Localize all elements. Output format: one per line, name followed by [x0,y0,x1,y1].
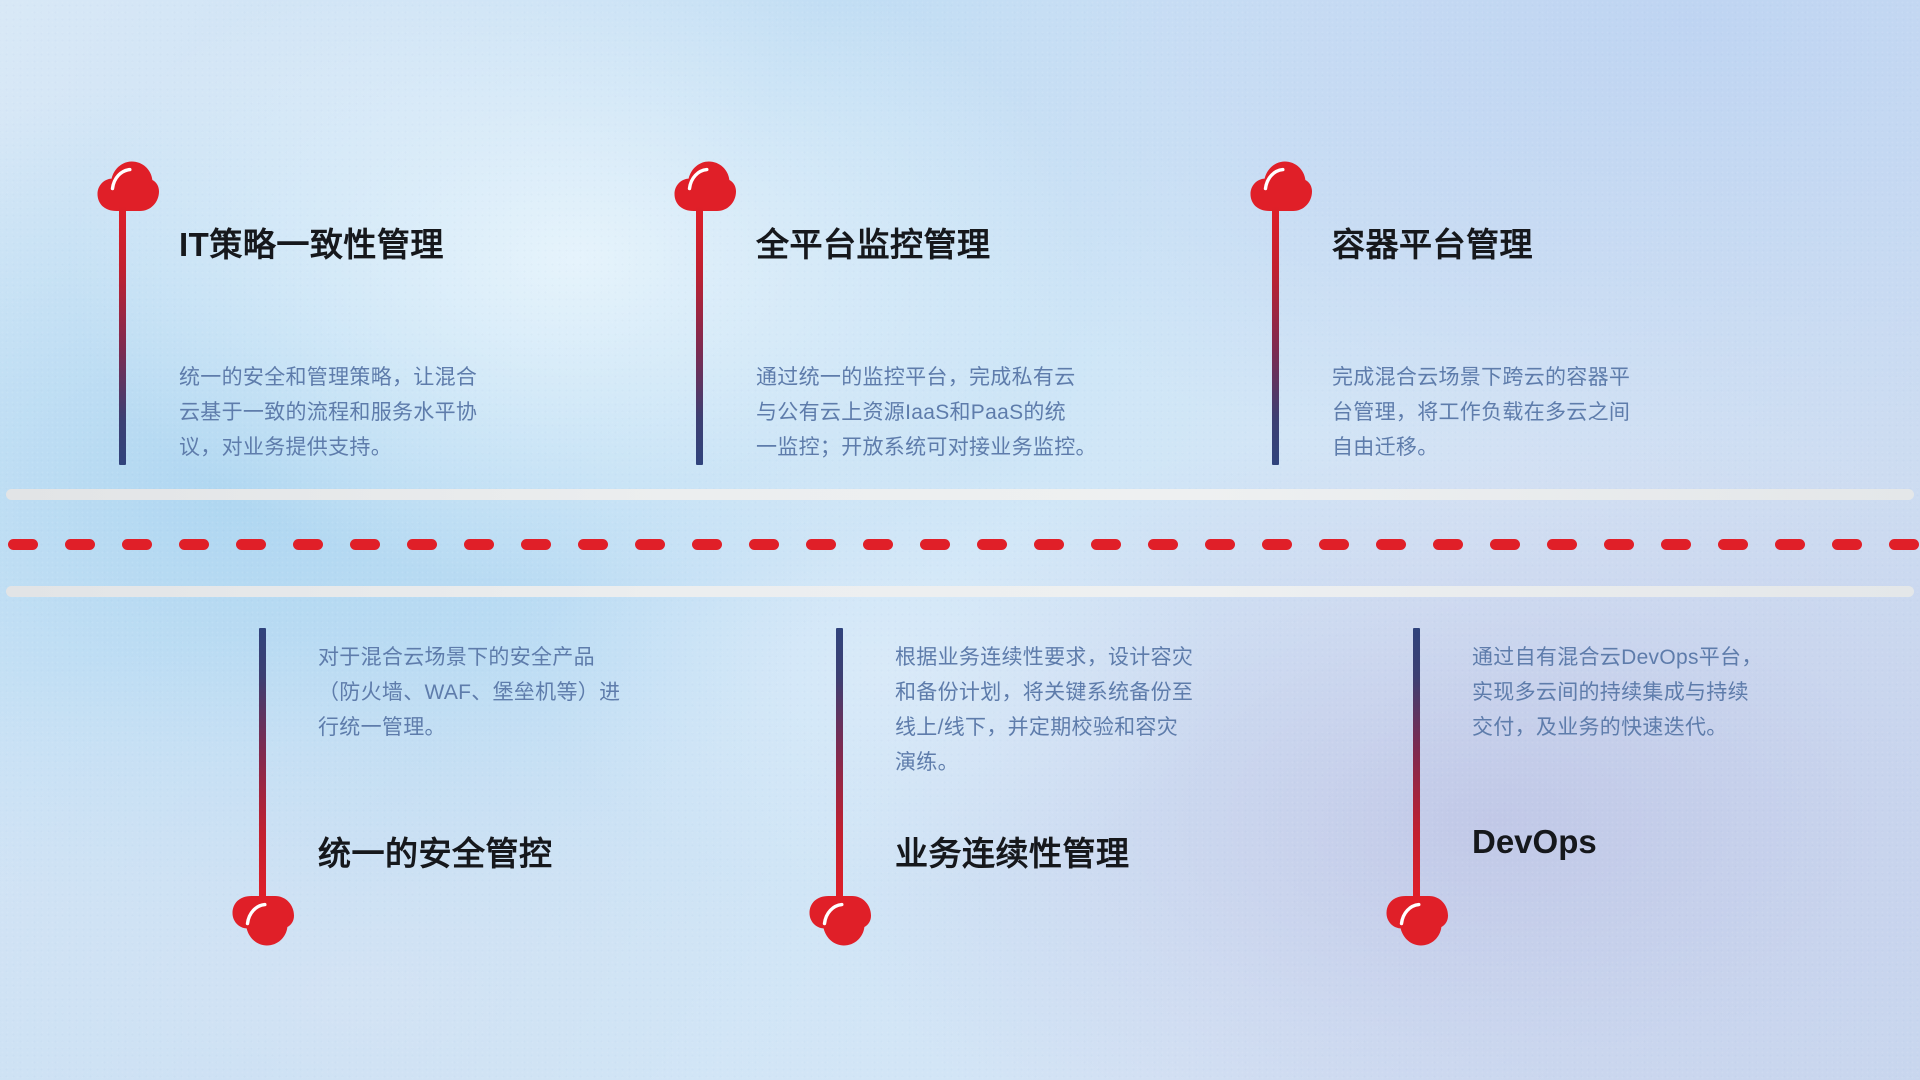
road-dash [236,539,266,550]
card-body: 对于混合云场景下的安全产品 （防火墙、WAF、堡垒机等）进 行统一管理。 [318,640,620,745]
road-dash [122,539,152,550]
road-dash [293,539,323,550]
body-line: 线上/线下，并定期校验和容灾 [895,710,1193,745]
road-dash [8,539,38,550]
road-dash [1490,539,1520,550]
road-dash [635,539,665,550]
road-dash [977,539,1007,550]
card-body: 完成混合云场景下跨云的容器平 台管理，将工作负载在多云之间 自由迁移。 [1332,360,1630,465]
road-rail-bottom [6,586,1914,597]
road-dash [1091,539,1121,550]
road-dash [1547,539,1577,550]
body-line: 一监控；开放系统可对接业务监控。 [756,430,1097,465]
connector-line [259,628,266,898]
body-line: 自由迁移。 [1332,430,1630,465]
road-divider [0,489,1920,597]
road-rail-top [6,489,1914,500]
card-heading: 容器平台管理 [1332,218,1533,266]
road-dash [1718,539,1748,550]
road-dash [578,539,608,550]
road-dash [65,539,95,550]
body-line: 与公有云上资源IaaS和PaaS的统 [756,395,1097,430]
road-dash [692,539,722,550]
road-dash [407,539,437,550]
road-dash [1262,539,1292,550]
card-body: 统一的安全和管理策略，让混合 云基于一致的流程和服务水平协 议，对业务提供支持。 [179,360,477,465]
cloud-icon [231,895,295,947]
card-heading: 业务连续性管理 [895,827,1130,875]
body-line: （防火墙、WAF、堡垒机等）进 [318,675,620,710]
card-heading: IT策略一致性管理 [179,218,444,266]
body-line: 通过统一的监控平台，完成私有云 [756,360,1097,395]
card-heading: 全平台监控管理 [756,218,991,266]
body-line: 和备份计划，将关键系统备份至 [895,675,1193,710]
road-dash [350,539,380,550]
road-dash [1034,539,1064,550]
cloud-icon [96,160,160,212]
body-line: 统一的安全和管理策略，让混合 [179,360,477,395]
cloud-icon [1249,160,1313,212]
road-dash [464,539,494,550]
road-dash [1889,539,1919,550]
body-line: 台管理，将工作负载在多云之间 [1332,395,1630,430]
road-dash [521,539,551,550]
road-dash [1433,539,1463,550]
body-line: 云基于一致的流程和服务水平协 [179,395,477,430]
card-body: 通过自有混合云DevOps平台， 实现多云间的持续集成与持续 交付，及业务的快速… [1472,640,1763,745]
card-body: 通过统一的监控平台，完成私有云 与公有云上资源IaaS和PaaS的统 一监控；开… [756,360,1097,465]
card-heading: 统一的安全管控 [318,827,553,875]
body-line: 演练。 [895,745,1193,780]
body-line: 完成混合云场景下跨云的容器平 [1332,360,1630,395]
card-body: 根据业务连续性要求，设计容灾 和备份计划，将关键系统备份至 线上/线下，并定期校… [895,640,1193,780]
road-dash [1148,539,1178,550]
road-dash [1832,539,1862,550]
connector-line [119,206,126,465]
body-line: 议，对业务提供支持。 [179,430,477,465]
road-dash [1319,539,1349,550]
road-dash [749,539,779,550]
road-dash [920,539,950,550]
road-dashed-centerline [0,539,1920,550]
connector-line [836,628,843,898]
cloud-icon [673,160,737,212]
body-line: 行统一管理。 [318,710,620,745]
body-line: 根据业务连续性要求，设计容灾 [895,640,1193,675]
cloud-icon [808,895,872,947]
road-dash [1205,539,1235,550]
connector-line [1413,628,1420,898]
road-dash [1376,539,1406,550]
road-dash [1604,539,1634,550]
infographic-canvas: IT策略一致性管理 统一的安全和管理策略，让混合 云基于一致的流程和服务水平协 … [0,0,1920,1080]
road-dash [1661,539,1691,550]
body-line: 通过自有混合云DevOps平台， [1472,640,1763,675]
connector-line [696,206,703,465]
body-line: 对于混合云场景下的安全产品 [318,640,620,675]
road-dash [1775,539,1805,550]
body-line: 实现多云间的持续集成与持续 [1472,675,1763,710]
road-dash [806,539,836,550]
connector-line [1272,206,1279,465]
card-heading: DevOps [1472,823,1597,861]
road-dash [179,539,209,550]
cloud-icon [1385,895,1449,947]
road-dash [863,539,893,550]
body-line: 交付，及业务的快速迭代。 [1472,710,1763,745]
